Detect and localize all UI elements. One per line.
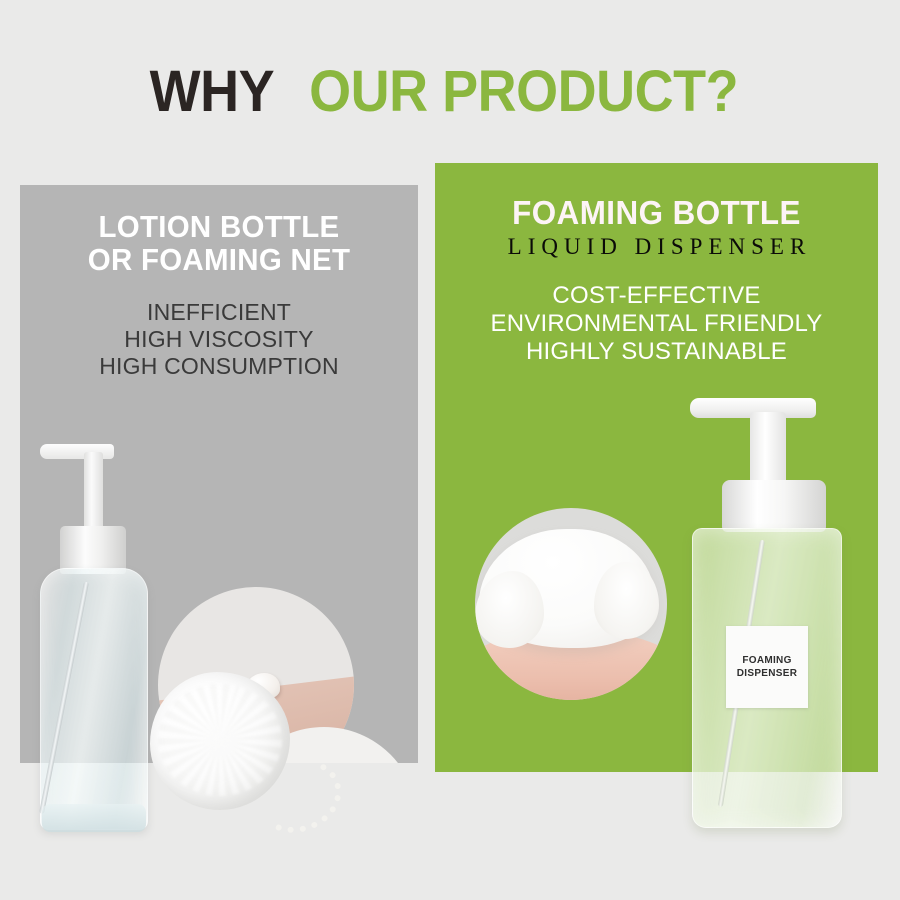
left-panel-point-1: INEFFICIENT [20, 299, 418, 326]
right-panel-heading-block: FOAMING BOTTLE LIQUID DISPENSER COST-EFF… [435, 195, 878, 367]
product-foaming-pump-bottle: FOAMING DISPENSER [686, 390, 858, 840]
page-title: WHYOUR PRODUCT? [0, 58, 900, 125]
foaming-label-line1: FOAMING [742, 654, 791, 667]
page-title-accent-word: OUR PRODUCT? [309, 58, 738, 125]
foaming-pump-collar [722, 480, 826, 532]
infographic-canvas: WHYOUR PRODUCT? LOTION BOTTLE OR FOAMING… [0, 0, 900, 900]
right-panel-heading: FOAMING BOTTLE [446, 195, 867, 231]
right-panel-point-3: HIGHLY SUSTAINABLE [435, 338, 878, 366]
lotion-pump-collar [60, 526, 126, 574]
product-lotion-pump-bottle [34, 432, 164, 842]
right-panel-point-1: COST-EFFECTIVE [435, 282, 878, 310]
lotion-bottle-base [42, 804, 146, 832]
left-panel-point-2: HIGH VISCOSITY [20, 326, 418, 353]
right-panel-subheading: LIQUID DISPENSER [435, 234, 878, 260]
left-panel-heading-line2: OR FOAMING NET [30, 243, 408, 276]
left-panel-point-3: HIGH CONSUMPTION [20, 353, 418, 380]
foaming-label-line2: DISPENSER [737, 667, 798, 680]
foaming-bottle-label: FOAMING DISPENSER [726, 626, 808, 708]
photo-foam-mound-on-hand [475, 508, 667, 700]
lotion-pump-stem [84, 452, 103, 534]
left-panel-points: INEFFICIENT HIGH VISCOSITY HIGH CONSUMPT… [20, 299, 418, 380]
page-title-dark-word: WHY [150, 58, 274, 125]
left-panel-heading-line1: LOTION BOTTLE [30, 210, 408, 243]
product-mesh-loofah-puff [150, 672, 340, 857]
right-panel-point-2: ENVIRONMENTAL FRIENDLY [435, 310, 878, 338]
lotion-bottle-body [40, 568, 148, 830]
foaming-pump-stem [750, 412, 786, 490]
right-panel-points: COST-EFFECTIVE ENVIRONMENTAL FRIENDLY HI… [435, 282, 878, 367]
left-panel-heading-block: LOTION BOTTLE OR FOAMING NET INEFFICIENT… [20, 210, 418, 380]
